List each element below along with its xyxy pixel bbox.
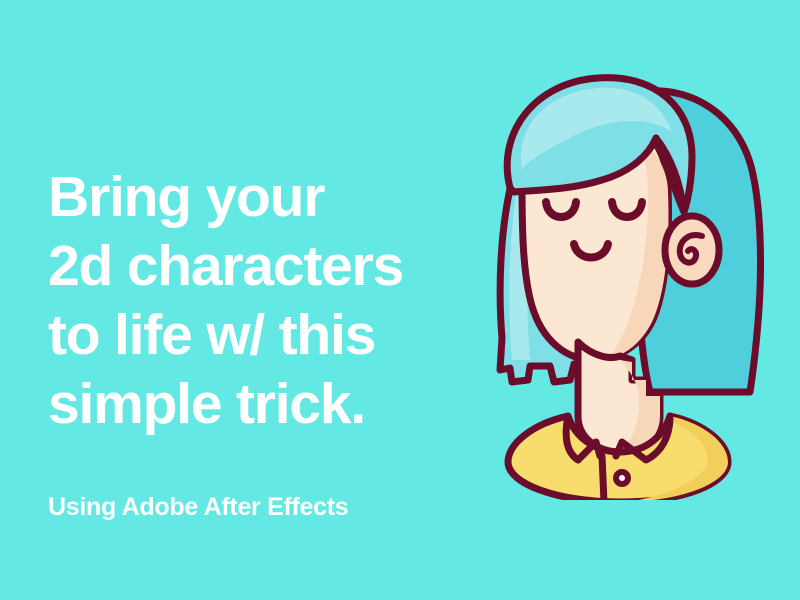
girl-illustration xyxy=(470,60,800,500)
poster-canvas: Bring your 2d characters to life w/ this… xyxy=(0,0,800,600)
text-block: Bring your 2d characters to life w/ this… xyxy=(48,163,518,439)
collar-button xyxy=(616,472,628,484)
subtitle: Using Adobe After Effects xyxy=(48,492,348,522)
page-title: Bring your 2d characters to life w/ this… xyxy=(48,163,518,439)
collar-placket xyxy=(602,456,604,500)
